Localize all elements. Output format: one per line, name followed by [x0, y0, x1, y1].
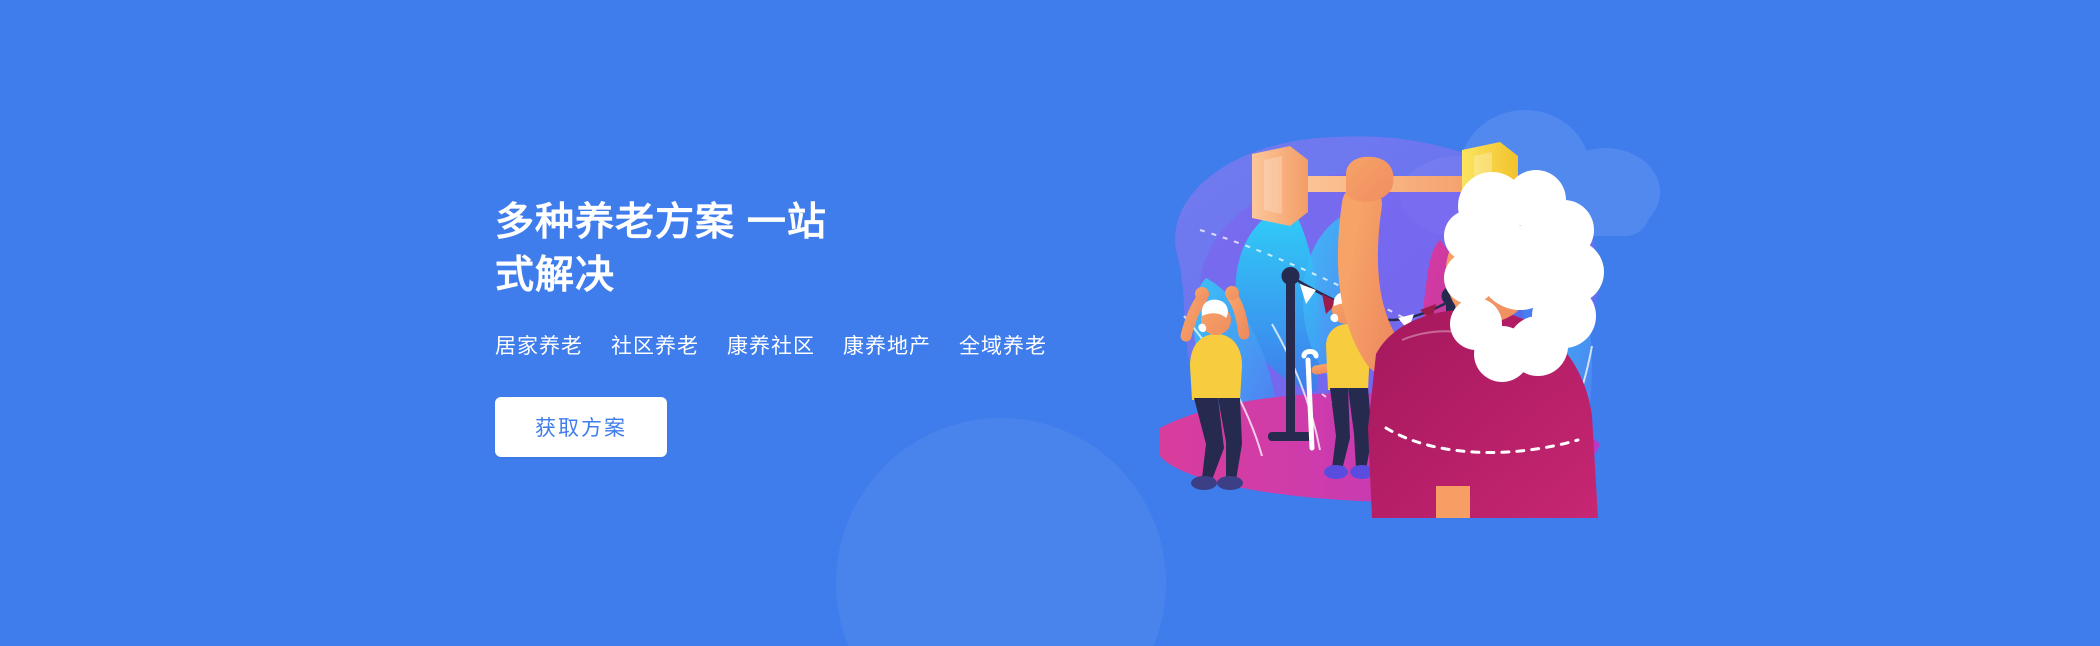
tag-item-wellness-community[interactable]: 康养社区 — [727, 336, 815, 357]
banner-copy: 多种养老方案 一站 式解决 居家养老 社区养老 康养社区 康养地产 全域养老 获… — [495, 196, 1135, 457]
tag-item-regional-care[interactable]: 全域养老 — [959, 336, 1047, 357]
page-title: 多种养老方案 一站 式解决 — [495, 196, 1135, 302]
tag-item-wellness-realestate[interactable]: 康养地产 — [843, 336, 931, 357]
tag-item-community-care[interactable]: 社区养老 — [611, 336, 699, 357]
tag-list: 居家养老 社区养老 康养社区 康养地产 全域养老 — [495, 336, 1135, 357]
get-plan-button[interactable]: 获取方案 — [495, 397, 667, 457]
elderly-fitness-illustration — [1140, 108, 1620, 518]
hero-banner: 多种养老方案 一站 式解决 居家养老 社区养老 康养社区 康养地产 全域养老 获… — [0, 0, 2100, 646]
tag-item-home-care[interactable]: 居家养老 — [495, 336, 583, 357]
